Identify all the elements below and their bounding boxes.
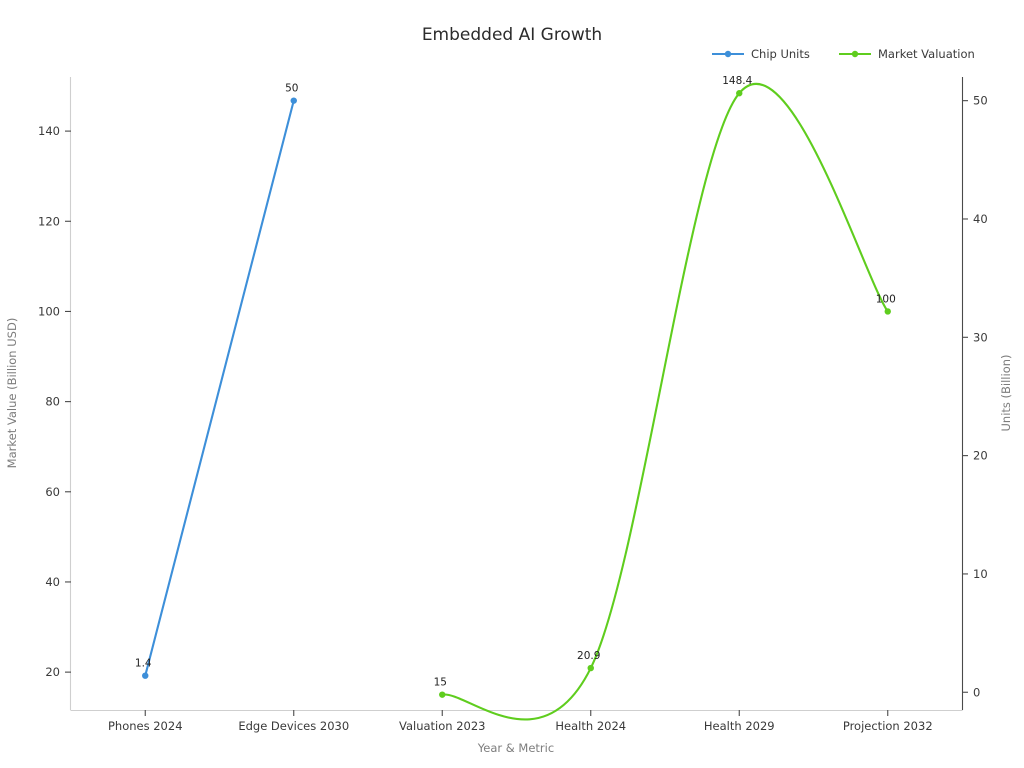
left-tick-label: 120 <box>38 214 60 228</box>
point-value-label: 1.4 <box>135 658 152 670</box>
point-value-label: 15 <box>434 677 447 689</box>
right-tick-label: 40 <box>973 212 988 226</box>
left-tick-label: 100 <box>38 304 60 318</box>
left-tick-label: 40 <box>45 575 60 589</box>
legend-item-label[interactable]: Market Valuation <box>878 47 975 61</box>
left-tick-label: 80 <box>45 395 60 409</box>
x-tick-label: Edge Devices 2030 <box>238 719 349 733</box>
x-tick-label: Phones 2024 <box>108 719 183 733</box>
legend-item-label[interactable]: Chip Units <box>751 47 810 61</box>
series-point <box>439 691 445 697</box>
y2-axis-label: Units (Billion) <box>999 354 1013 431</box>
right-tick-label: 30 <box>973 330 988 344</box>
right-tick-label: 10 <box>973 567 988 581</box>
left-tick-label: 20 <box>45 665 60 679</box>
x-axis-label: Year & Metric <box>477 741 554 755</box>
chart-background <box>0 0 1024 768</box>
point-value-label: 100 <box>876 293 896 305</box>
chart-container: Embedded AI Growth Chip UnitsMarket Valu… <box>0 0 1024 768</box>
right-tick-label: 20 <box>973 449 988 463</box>
right-tick-label: 50 <box>973 94 988 108</box>
series-point <box>291 97 297 103</box>
series-point <box>736 90 742 96</box>
x-tick-label: Projection 2032 <box>843 719 933 733</box>
series-point <box>142 672 148 678</box>
legend-swatch-marker <box>852 51 858 57</box>
chart-title: Embedded AI Growth <box>422 25 602 45</box>
series-point <box>588 665 594 671</box>
right-tick-label: 0 <box>973 685 980 699</box>
x-tick-label: Health 2029 <box>704 719 775 733</box>
x-tick-label: Health 2024 <box>555 719 626 733</box>
series-point <box>885 308 891 314</box>
point-value-label: 148.4 <box>722 75 752 87</box>
legend-swatch-marker <box>725 51 731 57</box>
left-tick-label: 60 <box>45 485 60 499</box>
x-tick-label: Valuation 2023 <box>399 719 486 733</box>
left-tick-label: 140 <box>38 124 60 138</box>
point-value-label: 50 <box>285 83 298 95</box>
point-value-label: 20.9 <box>577 650 600 662</box>
line-chart: Embedded AI Growth Chip UnitsMarket Valu… <box>0 0 1024 768</box>
y-axis-label: Market Value (Billion USD) <box>5 318 19 469</box>
